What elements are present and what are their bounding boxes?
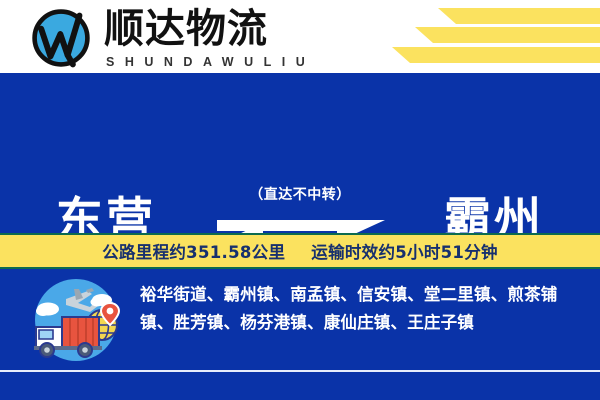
circle-w-swoosh-logo-icon	[28, 5, 94, 71]
brand-logo[interactable]: 顺达物流 SHUNDAWULIU	[28, 4, 315, 71]
coverage-line-2: 镇、胜芳镇、杨芬港镇、康仙庄镇、王庄子镇	[140, 309, 580, 337]
direct-service-note: （直达不中转）	[195, 185, 405, 205]
yellow-stripes-icon	[340, 0, 600, 73]
coverage-line-1: 裕华街道、霸州镇、南孟镇、信安镇、堂二里镇、煎茶铺	[140, 281, 580, 309]
banner-header: 顺达物流 SHUNDAWULIU	[0, 0, 600, 73]
bottom-strip	[0, 372, 600, 400]
brand-text-block: 顺达物流 SHUNDAWULIU	[104, 4, 315, 70]
coverage-section: 裕华街道、霸州镇、南孟镇、信安镇、堂二里镇、煎茶铺 镇、胜芳镇、杨芬港镇、康仙庄…	[0, 269, 600, 370]
brand-name-en: SHUNDAWULIU	[106, 54, 315, 70]
header-stripes-decoration	[340, 0, 600, 73]
route-section: 东营 （直达不中转） 【往返运输】 霸州	[0, 73, 600, 233]
logistics-route-banner: 顺达物流 SHUNDAWULIU 东营 （直达不中转） 【往返运输】 霸州 公路…	[0, 0, 600, 400]
truck-plane-globe-illustration-icon	[22, 277, 130, 363]
trip-info-bar: 公路里程约351.58公里 运输时效约5小时51分钟	[0, 233, 600, 269]
distance-text: 公路里程约351.58公里	[102, 239, 285, 263]
coverage-area-list: 裕华街道、霸州镇、南孟镇、信安镇、堂二里镇、煎茶铺 镇、胜芳镇、杨芬港镇、康仙庄…	[140, 281, 580, 337]
brand-name-cn: 顺达物流	[104, 6, 315, 52]
duration-text: 运输时效约5小时51分钟	[311, 239, 498, 263]
